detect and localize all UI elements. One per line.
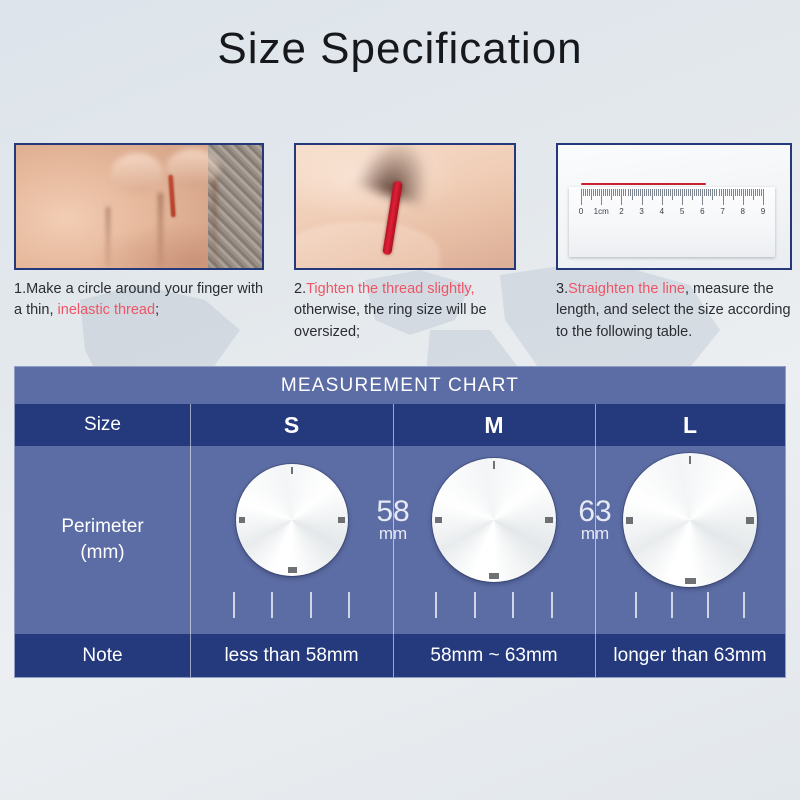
ruler-tick (678, 189, 679, 196)
column-divider (393, 404, 394, 446)
ruler-tick (615, 189, 616, 196)
ruler-tick (684, 189, 685, 196)
ruler-tick (712, 189, 713, 200)
ruler-tick (719, 189, 720, 196)
column-divider (190, 634, 191, 677)
ruler-tick (587, 189, 588, 196)
step-1-caption-highlight: inelastic thread (58, 302, 156, 318)
lower-finger-shape (294, 221, 440, 270)
ring-notch-left (435, 517, 442, 523)
ruler-tick (700, 189, 701, 196)
ruler-tick (650, 189, 651, 196)
ruler-tick (688, 189, 689, 196)
ruler-tick (725, 189, 726, 196)
note-row-label: Note (15, 634, 190, 677)
ring-notch-bottom (685, 578, 696, 584)
ruler-tick (690, 189, 691, 196)
ruler-tick (692, 189, 693, 200)
ruler-tick (745, 189, 746, 196)
step-2: 2.Tighten the thread slightly, otherwise… (294, 143, 516, 343)
ruler-tick (761, 189, 762, 196)
note-value-l: longer than 63mm (595, 634, 785, 677)
ruler-tick (601, 189, 602, 205)
ruler-tick (646, 189, 647, 196)
ruler-tick (636, 189, 637, 196)
scale-tick (707, 592, 709, 618)
note-value-m: 58mm ~ 63mm (393, 634, 595, 677)
ruler-label: 9 (761, 207, 765, 216)
boundary-63mm-unit: mm (563, 526, 627, 542)
ruler-tick (737, 189, 738, 196)
ring-notch-bottom (489, 573, 499, 579)
ruler-label: 0 (579, 207, 583, 216)
ruler-tick (628, 189, 629, 196)
ruler-tick (735, 189, 736, 196)
step-2-caption-prefix: 2. (294, 281, 306, 297)
note-row: Note less than 58mm 58mm ~ 63mm longer t… (15, 634, 785, 677)
ruler-tick (642, 189, 643, 205)
scale-tick (743, 592, 745, 618)
ruler-tick (759, 189, 760, 196)
ruler-label: 4 (660, 207, 664, 216)
ruler-label: 7 (720, 207, 724, 216)
size-value-m: M (393, 404, 595, 446)
ruler-label: 5 (680, 207, 684, 216)
ruler-tick (609, 189, 610, 196)
ruler-tick (664, 189, 665, 196)
ruler-tick (723, 189, 724, 205)
ruler-tick (680, 189, 681, 196)
ruler-tick (658, 189, 659, 196)
ring-notch-top (291, 467, 293, 474)
hand-with-thread-photo (14, 143, 264, 270)
step-2-caption-highlight: Tighten the thread slightly, (306, 281, 474, 297)
step-3-caption-highlight: Straighten the line (568, 281, 685, 297)
step-3-caption-prefix: 3. (556, 281, 568, 297)
ruler-tick (696, 189, 697, 196)
ruler-tick (662, 189, 663, 205)
ring-notch-right (545, 517, 553, 523)
ruler-tick (755, 189, 756, 196)
ruler-tick (613, 189, 614, 196)
chart-title: MEASUREMENT CHART (281, 375, 519, 397)
ruler-tick (644, 189, 645, 196)
size-value-s: S (190, 404, 393, 446)
ruler-tick (733, 189, 734, 200)
column-divider (595, 404, 596, 446)
ruler-tick (708, 189, 709, 196)
finger-gap-shade (158, 193, 163, 267)
ruler-tick (698, 189, 699, 196)
step-1-caption: 1.Make a circle around your finger with … (14, 279, 264, 322)
ruler-tick (656, 189, 657, 196)
ruler-tick (638, 189, 639, 196)
chart-header-row: MEASUREMENT CHART (15, 367, 785, 404)
ruler-tick (623, 189, 624, 196)
ruler-tick (599, 189, 600, 196)
perimeter-row-label: Perimeter (mm) (15, 446, 190, 634)
step-3-caption: 3.Straighten the line, measure the lengt… (556, 279, 792, 343)
ruler-tick (603, 189, 604, 196)
ruler-tick (727, 189, 728, 196)
size-row-label: Size (15, 404, 190, 446)
page-title: Size Specification (0, 24, 800, 74)
boundary-58mm-unit: mm (361, 526, 425, 542)
ruler-tick (702, 189, 703, 205)
size-value-l: L (595, 404, 785, 446)
ruler-tick (668, 189, 669, 196)
ruler-number-labels: 01cm23456789 (569, 207, 775, 219)
ruler-tick (739, 189, 740, 196)
ruler: 01cm23456789 (569, 187, 775, 257)
scale-tick (512, 592, 514, 618)
ruler-tick (731, 189, 732, 196)
ruler-tick (741, 189, 742, 196)
scale-tick (671, 592, 673, 618)
ruler-tick (686, 189, 687, 196)
scale-tick (310, 592, 312, 618)
size-row: Size S M L (15, 404, 785, 446)
ruler-tick (583, 189, 584, 196)
ruler-tick (619, 189, 620, 196)
ruler-tick (621, 189, 622, 205)
ring-notch-top (689, 456, 691, 464)
ruler-label: 2 (619, 207, 623, 216)
ruler-tick (672, 189, 673, 200)
ruler-tick (654, 189, 655, 196)
ruler-tick (605, 189, 606, 196)
note-value-s: less than 58mm (190, 634, 393, 677)
ruler-tick (652, 189, 653, 200)
ruler-tick (585, 189, 586, 196)
ruler-tick (611, 189, 612, 200)
ruler-tick-marks (569, 189, 775, 207)
ring-scale-s (190, 592, 393, 618)
ruler-tick (743, 189, 744, 205)
ring-notch-right (338, 517, 345, 523)
scale-tick (435, 592, 437, 618)
ring-notch-right (746, 517, 754, 524)
finger-gap-shade (212, 179, 217, 267)
ring-icon (432, 458, 556, 582)
steps-section: 1.Make a circle around your finger with … (0, 143, 800, 358)
ruler-label: 3 (639, 207, 643, 216)
column-divider (190, 404, 191, 446)
ruler-tick (763, 189, 764, 205)
ruler-tick (749, 189, 750, 196)
ruler-tick (751, 189, 752, 196)
scale-tick (551, 592, 553, 618)
knuckle-shade (111, 153, 163, 193)
ring-notch-left (239, 517, 245, 523)
ruler-tick (674, 189, 675, 196)
ruler-measuring-thread-photo: 01cm23456789 (556, 143, 792, 270)
scale-tick (635, 592, 637, 618)
perimeter-row: Perimeter (mm) (15, 446, 785, 634)
ruler-tick (589, 189, 590, 196)
perimeter-label-line1: Perimeter (61, 516, 143, 537)
finger-gap-shade (106, 207, 110, 267)
ruler-tick (666, 189, 667, 196)
ruler-tick (593, 189, 594, 196)
scale-tick (474, 592, 476, 618)
ring-scale-m (393, 592, 595, 618)
step-1-caption-suffix: ; (155, 302, 159, 318)
scale-tick (233, 592, 235, 618)
ruler-tick (597, 189, 598, 196)
step-2-caption-suffix: otherwise, the ring size will be oversiz… (294, 302, 487, 339)
ruler-tick (648, 189, 649, 196)
perimeter-label-line2: (mm) (80, 542, 124, 563)
ruler-tick (710, 189, 711, 196)
measurement-chart: MEASUREMENT CHART Size S M L Perimeter (… (14, 366, 786, 678)
boundary-58mm-value: 58 (361, 498, 425, 526)
ruler-tick (595, 189, 596, 196)
step-1: 1.Make a circle around your finger with … (14, 143, 264, 322)
ruler-tick (753, 189, 754, 200)
ruler-tick (682, 189, 683, 205)
ring-notch-left (626, 517, 633, 524)
column-divider (393, 634, 394, 677)
ruler-tick (630, 189, 631, 196)
red-thread-straightened (581, 183, 706, 185)
ruler-tick (607, 189, 608, 196)
ruler-label: 6 (700, 207, 704, 216)
ruler-tick (716, 189, 717, 196)
ruler-tick (625, 189, 626, 196)
ring-notch-top (493, 461, 495, 469)
ruler-tick (634, 189, 635, 196)
ruler-tick (747, 189, 748, 196)
scale-tick (271, 592, 273, 618)
ruler-tick (694, 189, 695, 196)
ruler-tick (714, 189, 715, 196)
ruler-tick (640, 189, 641, 196)
finger-closeup-thread-photo (294, 143, 516, 270)
ruler-tick (704, 189, 705, 196)
boundary-63mm: 63 mm (563, 498, 627, 541)
column-divider (190, 446, 191, 634)
ring-icon (623, 453, 757, 587)
ruler-tick (670, 189, 671, 196)
ruler-tick (729, 189, 730, 196)
ruler-tick (676, 189, 677, 196)
step-2-caption: 2.Tighten the thread slightly, otherwise… (294, 279, 516, 343)
ruler-label: 1cm (594, 207, 609, 216)
ring-scale-l (595, 592, 785, 618)
ruler-label: 8 (741, 207, 745, 216)
ruler-tick (660, 189, 661, 196)
ruler-tick (757, 189, 758, 196)
boundary-63mm-value: 63 (563, 498, 627, 526)
column-divider (595, 634, 596, 677)
ring-notch-bottom (288, 567, 297, 573)
ruler-tick (617, 189, 618, 196)
ruler-tick (591, 189, 592, 200)
scale-tick (348, 592, 350, 618)
step-3: 01cm23456789 3.Straighten the line, meas… (556, 143, 792, 343)
ruler-tick (706, 189, 707, 196)
ring-icon (236, 464, 348, 576)
ruler-tick (581, 189, 582, 205)
ruler-tick (721, 189, 722, 196)
ruler-tick (632, 189, 633, 200)
boundary-58mm: 58 mm (361, 498, 425, 541)
